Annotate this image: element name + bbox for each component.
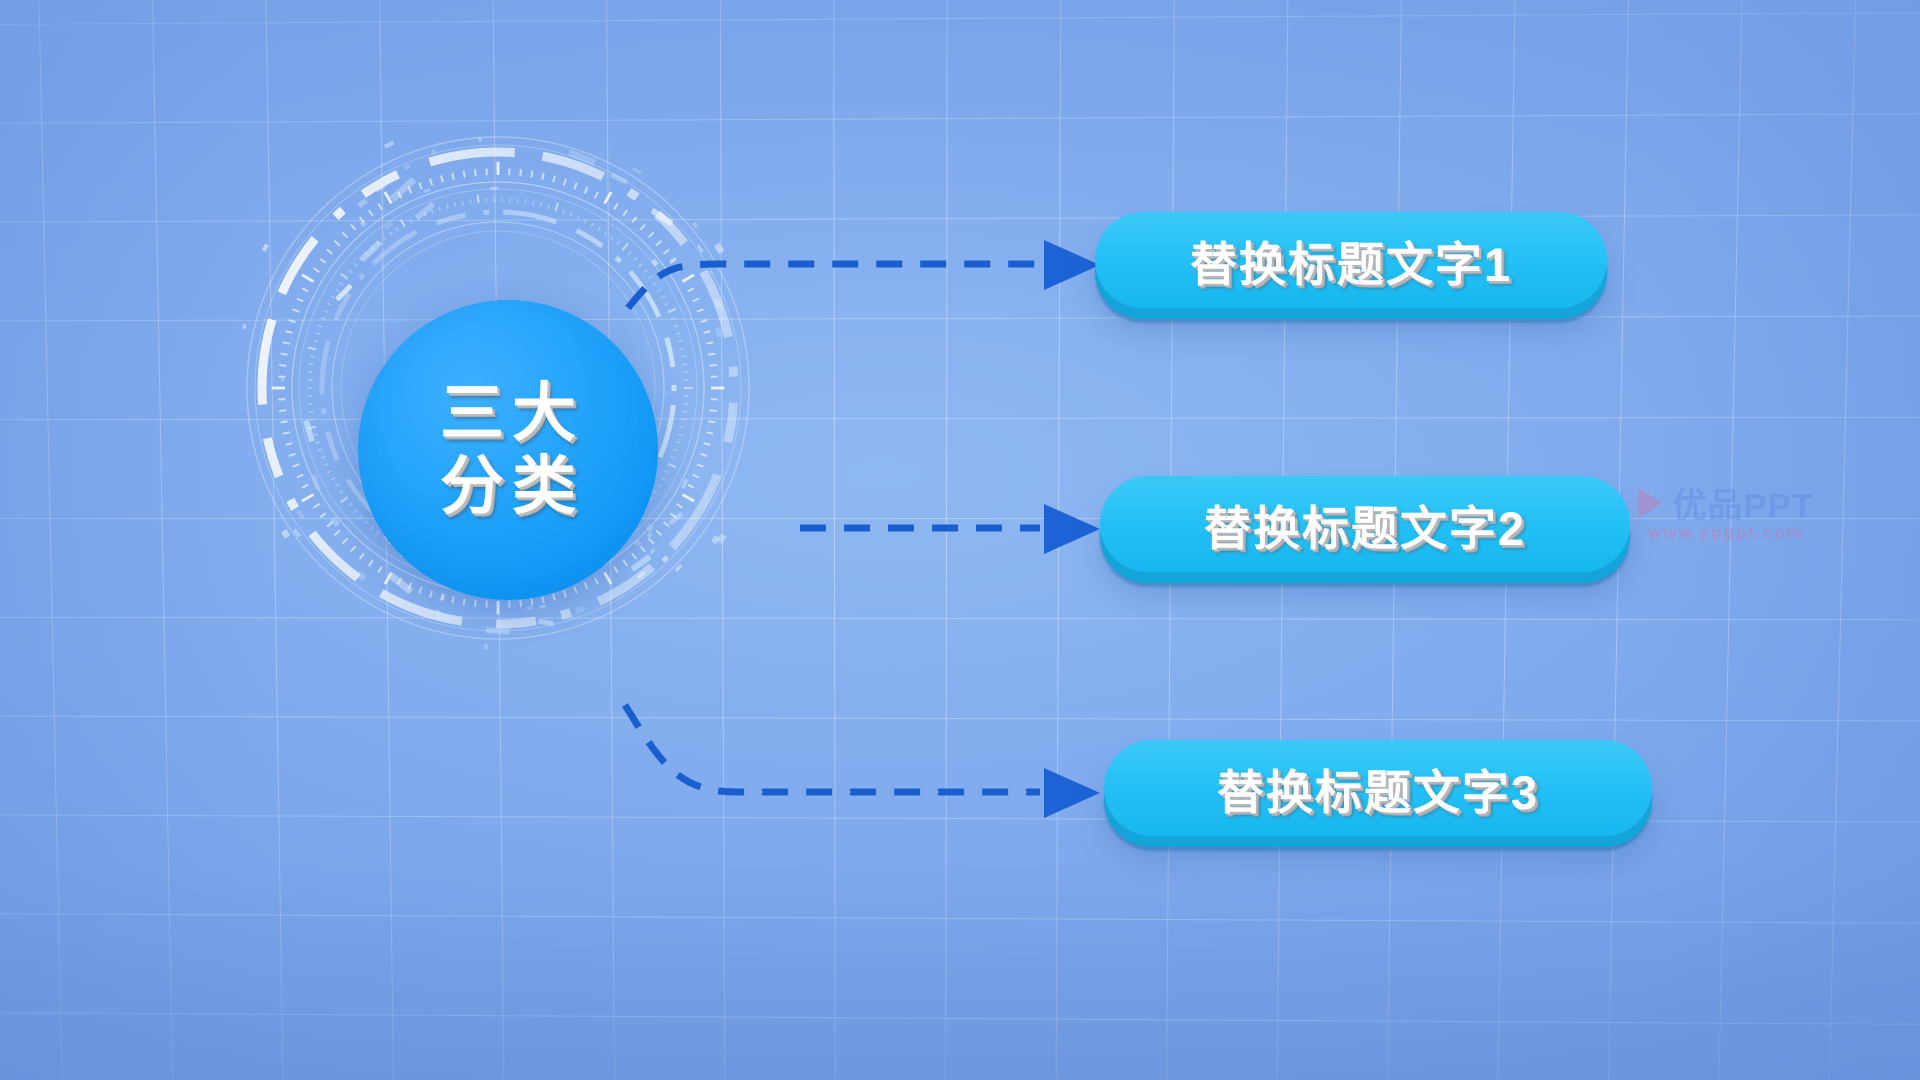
play-triangle-icon [1638, 487, 1662, 518]
watermark-text: 优品PPT [1672, 478, 1814, 528]
topic-pill-1-label: 替换标题文字1 [1190, 226, 1512, 295]
topic-pill-2[interactable]: 替换标题文字2 [1100, 476, 1630, 572]
topic-pill-3[interactable]: 替换标题文字3 [1104, 740, 1652, 836]
topic-pill-2-label: 替换标题文字2 [1204, 490, 1526, 559]
center-circle-line-2: 分类 [432, 452, 584, 521]
topic-pill-1[interactable]: 替换标题文字1 [1095, 212, 1607, 308]
center-circle-line-1: 三大 [432, 379, 584, 448]
slide-canvas: 三大 分类 替换标题文字1 替换标题文字2 替换标题文字3 优品PPT www.… [0, 0, 1920, 1080]
topic-pill-3-label: 替换标题文字3 [1217, 754, 1539, 823]
center-circle[interactable]: 三大 分类 [358, 300, 658, 600]
watermark-url: www.ypppt.com [1648, 523, 1804, 543]
watermark: 优品PPT [1638, 478, 1814, 528]
